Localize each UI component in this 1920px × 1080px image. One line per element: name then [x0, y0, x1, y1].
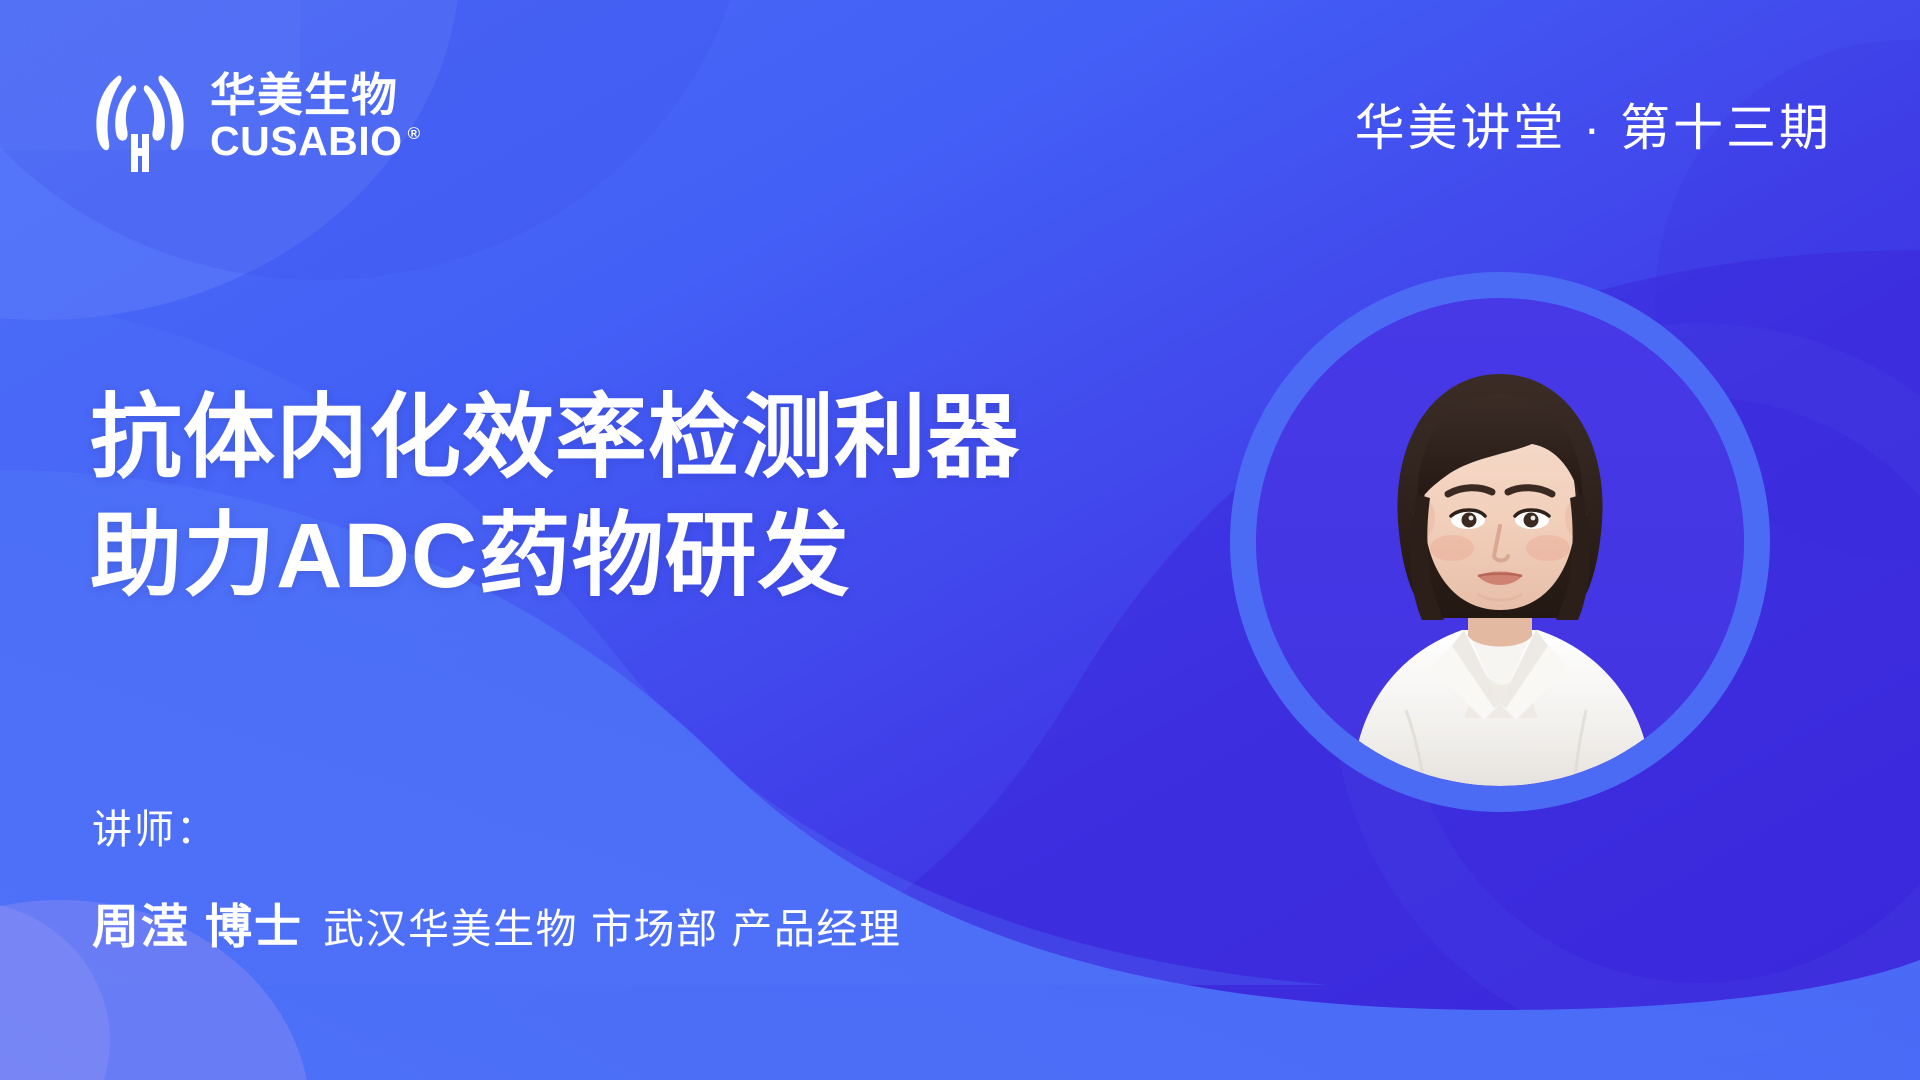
speaker-info: 讲师： 周滢 博士 武汉华美生物 市场部 产品经理: [92, 806, 1192, 957]
cusabio-hands-butterfly-icon: [88, 62, 192, 172]
webinar-poster: 华美生物 CUSABIO ® 华美讲堂 · 第十三期 抗体内化效率检测利器 助力…: [0, 0, 1920, 1080]
registered-trademark-icon: ®: [408, 124, 421, 144]
speaker-portrait: [1230, 272, 1770, 812]
portrait-photo: [1256, 298, 1744, 786]
brand-logo: 华美生物 CUSABIO ®: [88, 62, 420, 172]
brand-name-cn: 华美生物: [210, 71, 420, 120]
page-title: 抗体内化效率检测利器 助力ADC药物研发: [90, 380, 1170, 616]
title-line-1: 抗体内化效率检测利器: [90, 380, 1170, 498]
title-line-2: 助力ADC药物研发: [90, 498, 1170, 616]
speaker-row: 周滢 博士 武汉华美生物 市场部 产品经理: [92, 888, 1192, 957]
brand-name-en: CUSABIO: [210, 120, 403, 163]
speaker-label: 讲师：: [92, 806, 1192, 854]
brand-wordmark: 华美生物 CUSABIO ®: [210, 71, 420, 163]
speaker-name: 周滢 博士: [92, 888, 303, 957]
speaker-role: 武汉华美生物 市场部 产品经理: [323, 895, 901, 955]
portrait-illustration: [1256, 298, 1744, 786]
series-label: 华美讲堂 · 第十三期: [1355, 88, 1832, 160]
